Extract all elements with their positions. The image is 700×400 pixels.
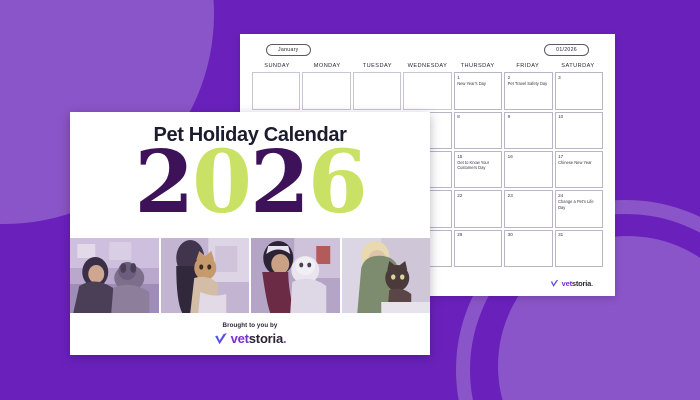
calendar-cell-day-3[interactable]: 3 [555, 72, 603, 109]
logo-word-storia: storia [572, 279, 591, 288]
photo-3-artwork [251, 238, 340, 313]
calendar-cell-day-9[interactable]: 9 [504, 112, 552, 149]
logo-word-storia: storia [249, 331, 283, 346]
vetstoria-wordmark-cover: vetstoria. [231, 331, 287, 346]
calendar-cell-day-1[interactable]: 1New Year's Day [454, 72, 502, 109]
calendar-cell-day-15[interactable]: 15Get to Know Your Customers Day [454, 151, 502, 188]
calendar-day-number: 31 [558, 232, 600, 237]
calendar-cell-empty[interactable] [252, 72, 300, 109]
vetstoria-check-icon [214, 332, 228, 346]
calendar-day-number: 29 [457, 232, 499, 237]
calendar-day-number: 9 [508, 114, 550, 119]
photo-person-holding-orange-cat [159, 238, 250, 313]
photo-woman-hugging-white-dog [249, 238, 340, 313]
day-name-monday: MONDAY [302, 63, 352, 69]
calendar-day-number: 22 [457, 193, 499, 198]
calendar-day-number: 23 [508, 193, 550, 198]
vetstoria-check-icon [550, 279, 559, 288]
calendar-cell-day-29[interactable]: 29 [454, 230, 502, 267]
day-name-thursday: THURSDAY [453, 63, 503, 69]
calendar-cover-card[interactable]: Pet Holiday Calendar 2026 [70, 112, 430, 355]
date-pill[interactable]: 01/2026 [544, 44, 589, 56]
brought-to-you-by-label: Brought to you by [223, 322, 278, 329]
cover-year-digit-1: 0 [192, 132, 250, 233]
calendar-cell-day-8[interactable]: 8 [454, 112, 502, 149]
photo-vet-examining-siamese-cat [340, 238, 431, 313]
calendar-day-event: New Year's Day [457, 81, 499, 86]
photo-2-artwork [161, 238, 250, 313]
calendar-cell-empty[interactable] [302, 72, 350, 109]
cover-year-digit-3: 6 [308, 132, 366, 233]
logo-word-dot: . [591, 279, 593, 288]
calendar-day-number: 3 [558, 75, 600, 80]
photo-woman-holding-spotted-dog [70, 238, 159, 313]
vetstoria-logo-cover[interactable]: vetstoria. [214, 331, 287, 346]
calendar-day-event: Change a Pet's Life Day [558, 199, 600, 210]
calendar-day-event: Chinese New Year [558, 160, 600, 165]
calendar-cell-day-22[interactable]: 22 [454, 190, 502, 227]
calendar-cell-day-2[interactable]: 2Pet Travel Safety Day [504, 72, 552, 109]
cover-photo-strip [70, 238, 430, 313]
calendar-day-number: 8 [457, 114, 499, 119]
month-pill[interactable]: January [266, 44, 311, 56]
logo-word-dot: . [283, 331, 286, 346]
calendar-cell-empty[interactable] [403, 72, 451, 109]
calendar-day-name-row: SUNDAY MONDAY TUESDAY WEDNESDAY THURSDAY… [252, 63, 603, 69]
cover-branding: Brought to you by vetstoria. [70, 313, 430, 355]
day-name-friday: FRIDAY [503, 63, 553, 69]
calendar-day-number: 16 [508, 154, 550, 159]
day-name-saturday: SATURDAY [553, 63, 603, 69]
calendar-day-event: Pet Travel Safety Day [508, 81, 550, 86]
day-name-wednesday: WEDNESDAY [402, 63, 452, 69]
vetstoria-wordmark-calendar: vetstoria. [562, 279, 593, 288]
calendar-cell-day-10[interactable]: 10 [555, 112, 603, 149]
calendar-cell-day-23[interactable]: 23 [504, 190, 552, 227]
cover-year-digit-2: 2 [250, 132, 308, 233]
screenshot-canvas: January 01/2026 SUNDAY MONDAY TUESDAY WE… [0, 0, 700, 400]
calendar-day-number: 2 [508, 75, 550, 80]
cover-year: 2026 [70, 143, 430, 222]
calendar-cell-day-31[interactable]: 31 [555, 230, 603, 267]
cover-year-digit-0: 2 [134, 132, 192, 233]
calendar-cell-empty[interactable] [353, 72, 401, 109]
calendar-day-number: 30 [508, 232, 550, 237]
calendar-day-number: 10 [558, 114, 600, 119]
photo-1-artwork [70, 238, 159, 313]
day-name-sunday: SUNDAY [252, 63, 302, 69]
calendar-cell-day-24[interactable]: 24Change a Pet's Life Day [555, 190, 603, 227]
calendar-day-number: 1 [457, 75, 499, 80]
calendar-cell-day-17[interactable]: 17Chinese New Year [555, 151, 603, 188]
calendar-day-number: 24 [558, 193, 600, 198]
logo-word-vet: vet [231, 331, 249, 346]
vetstoria-logo-calendar: vetstoria. [550, 279, 593, 288]
calendar-day-number: 17 [558, 154, 600, 159]
calendar-cell-day-16[interactable]: 16 [504, 151, 552, 188]
calendar-topbar: January 01/2026 [252, 44, 603, 56]
logo-word-vet: vet [562, 279, 572, 288]
photo-4-artwork [342, 238, 431, 313]
calendar-cell-day-30[interactable]: 30 [504, 230, 552, 267]
calendar-day-event: Get to Know Your Customers Day [457, 160, 499, 171]
calendar-day-number: 15 [457, 154, 499, 159]
day-name-tuesday: TUESDAY [352, 63, 402, 69]
